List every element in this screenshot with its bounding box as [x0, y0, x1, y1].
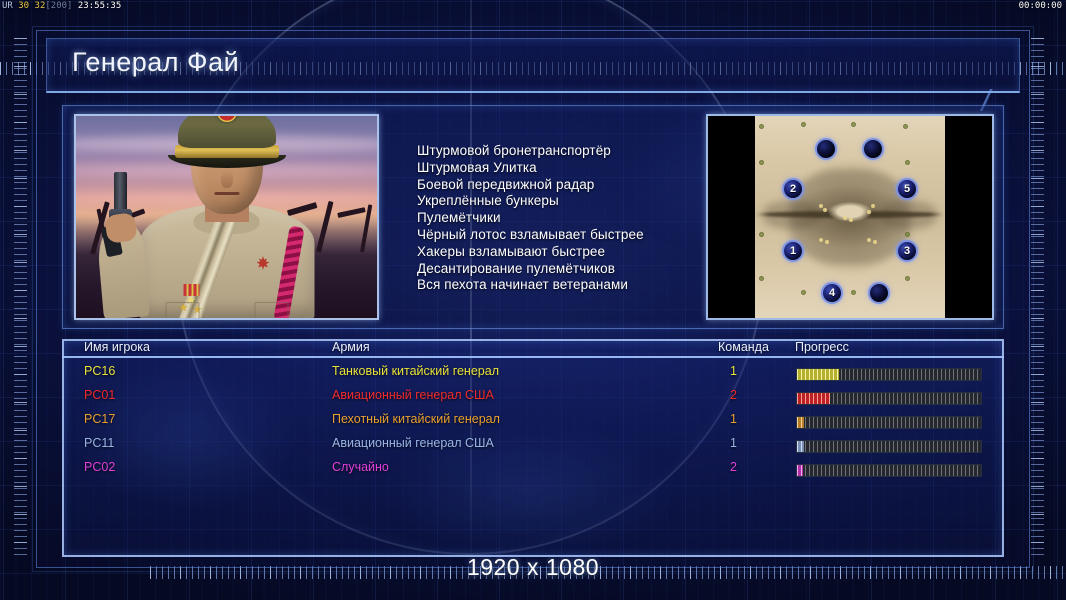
hud-debug-left: UR 30 32[200] 23:55:35 — [2, 1, 121, 11]
ability-item: Укреплённые бункеры — [417, 193, 702, 210]
page-title: Генерал Фай — [72, 47, 239, 78]
loading-screen: UR 30 32[200] 23:55:35 00:00:00 Генерал … — [0, 0, 1066, 600]
player-list-header-rule — [62, 339, 1004, 358]
minimap-terrain: 12345 — [755, 116, 945, 318]
table-row[interactable]: PC16Танковый китайский генерал1 — [62, 364, 1004, 388]
minimap-tree-icon — [905, 276, 910, 281]
minimap-tree-icon — [851, 122, 856, 127]
general-medal — [183, 284, 199, 296]
minimap-resource-icon — [819, 238, 823, 242]
minimap-tree-icon — [759, 276, 764, 281]
hud-value-a: 30 — [18, 1, 29, 11]
player-army-cell: Авиационный генерал США — [332, 436, 494, 450]
general-pocket — [165, 302, 199, 320]
progress-bar-track — [797, 465, 981, 476]
minimap-tree-icon — [903, 124, 908, 129]
player-team-cell: 1 — [730, 436, 737, 450]
hud-value-b: 32 — [35, 1, 46, 11]
minimap-preview: 12345 — [706, 114, 994, 320]
player-name-cell: PC17 — [84, 412, 115, 426]
minimap-tree-icon — [801, 290, 806, 295]
ability-list: Штурмовой бронетранспортёр Штурмовая Ули… — [417, 143, 702, 294]
minimap-tree-icon — [759, 124, 764, 129]
column-header-progress: Прогресс — [795, 340, 849, 354]
progress-bar — [796, 392, 982, 405]
minimap-start-position — [815, 138, 837, 160]
player-team-cell: 2 — [730, 460, 737, 474]
minimap-resource-icon — [867, 238, 871, 242]
player-name-cell: PC02 — [84, 460, 115, 474]
player-team-cell: 2 — [730, 388, 737, 402]
progress-bar-track — [797, 441, 981, 452]
ability-item: Штурмовая Улитка — [417, 160, 702, 177]
ability-item: Вся пехота начинает ветеранами — [417, 277, 702, 294]
player-team-cell: 1 — [730, 412, 737, 426]
minimap-resource-icon — [843, 216, 847, 220]
progress-bar-fill — [797, 393, 830, 404]
progress-bar-fill — [797, 465, 803, 476]
ability-item: Боевой передвижной радар — [417, 177, 702, 194]
minimap-start-position: 2 — [782, 178, 804, 200]
ability-item: Пулемётчики — [417, 210, 702, 227]
minimap-resource-icon — [867, 210, 871, 214]
general-mouth — [214, 192, 239, 195]
general-insignia — [256, 256, 270, 270]
player-army-cell: Танковый китайский генерал — [332, 364, 499, 378]
table-row[interactable]: PC17Пехотный китайский генерал1 — [62, 412, 1004, 436]
player-name-cell: PC11 — [84, 436, 114, 450]
ability-item: Десантирование пулемётчиков — [417, 261, 702, 278]
progress-bar-track — [797, 417, 981, 428]
minimap-tree-icon — [905, 160, 910, 165]
general-nose — [221, 170, 233, 188]
column-header-army: Армия — [332, 340, 370, 354]
hud-label: UR — [2, 1, 13, 11]
column-header-player: Имя игрока — [84, 340, 150, 354]
minimap-start-position — [862, 138, 884, 160]
hud-timer-right: 00:00:00 — [1019, 1, 1062, 11]
minimap-resource-icon — [849, 218, 853, 222]
minimap-resource-icon — [823, 208, 827, 212]
minimap-start-position — [868, 282, 890, 304]
progress-bar — [796, 368, 982, 381]
player-army-cell: Авиационный генерал США — [332, 388, 494, 402]
player-team-cell: 1 — [730, 364, 737, 378]
column-header-team: Команда — [718, 340, 769, 354]
ruler-left — [14, 38, 27, 558]
minimap-tree-icon — [801, 122, 806, 127]
player-name-cell: PC16 — [84, 364, 115, 378]
minimap-tree-icon — [851, 290, 856, 295]
progress-bar-fill — [797, 441, 804, 452]
general-portrait — [74, 114, 379, 320]
progress-bar-fill — [797, 369, 839, 380]
minimap-start-position: 1 — [782, 240, 804, 262]
hud-clock: 23:55:35 — [78, 1, 121, 11]
minimap-tree-icon — [905, 232, 910, 237]
minimap-start-position: 3 — [896, 240, 918, 262]
ability-item: Хакеры взламывают быстрее — [417, 244, 702, 261]
general-pocket — [254, 302, 288, 320]
minimap-resource-icon — [819, 204, 823, 208]
minimap-start-position: 5 — [896, 178, 918, 200]
table-row[interactable]: PC01Авиационный генерал США2 — [62, 388, 1004, 412]
player-army-cell: Случайно — [332, 460, 389, 474]
player-name-cell: PC01 — [84, 388, 115, 402]
resolution-label: 1920 x 1080 — [0, 554, 1066, 581]
minimap-start-position: 4 — [821, 282, 843, 304]
minimap-resource-icon — [873, 240, 877, 244]
hud-value-bracket: [200] — [45, 1, 72, 11]
player-army-cell: Пехотный китайский генерал — [332, 412, 500, 426]
minimap-resource-icon — [825, 240, 829, 244]
table-row[interactable]: PC11Авиационный генерал США1 — [62, 436, 1004, 460]
minimap-tree-icon — [759, 160, 764, 165]
minimap-resource-icon — [871, 204, 875, 208]
progress-bar — [796, 464, 982, 477]
ability-item: Штурмовой бронетранспортёр — [417, 143, 702, 160]
progress-bar — [796, 440, 982, 453]
table-row[interactable]: PC02Случайно2 — [62, 460, 1004, 484]
ability-item: Чёрный лотос взламывает быстрее — [417, 227, 702, 244]
progress-bar-fill — [797, 417, 804, 428]
minimap-tree-icon — [759, 232, 764, 237]
progress-bar — [796, 416, 982, 429]
